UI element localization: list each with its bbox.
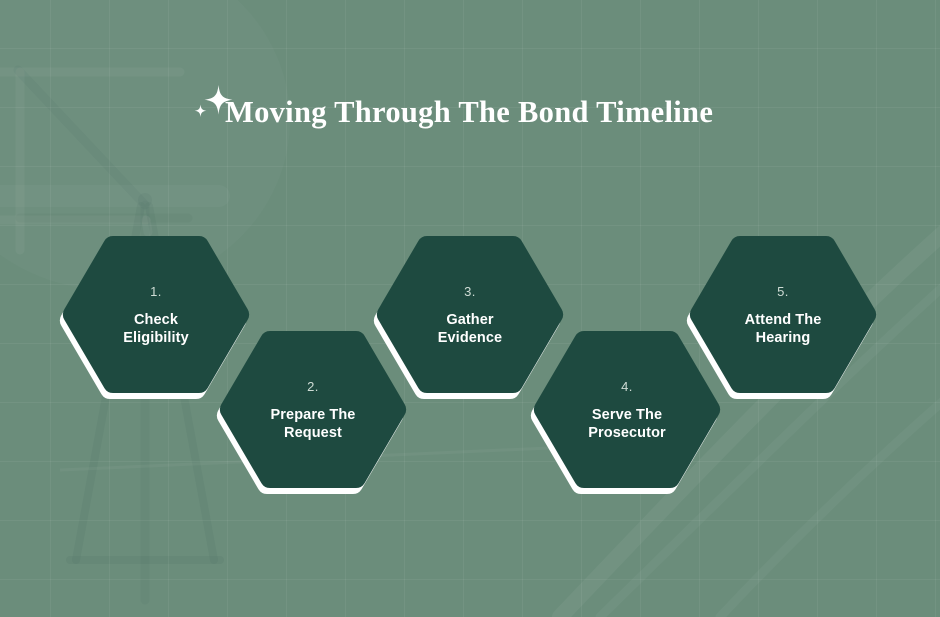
step-hexagon-5[interactable]: 5. Attend The Hearing — [689, 233, 877, 399]
page-title: Moving Through The Bond Timeline — [225, 97, 713, 128]
page-title-row: Moving Through The Bond Timeline — [191, 82, 713, 128]
step-hexagon-5-fill — [689, 233, 877, 399]
sparkle-icon — [191, 82, 235, 128]
infographic-canvas: Moving Through The Bond Timeline 1. Chec… — [0, 0, 940, 617]
